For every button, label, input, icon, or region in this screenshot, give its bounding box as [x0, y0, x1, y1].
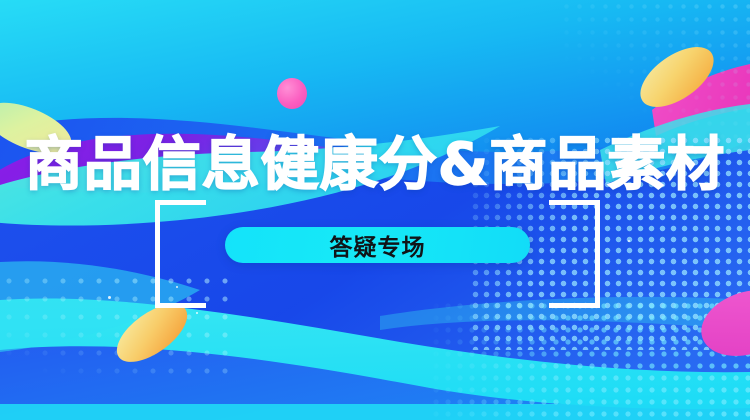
- sparkle-dot: [108, 296, 111, 299]
- pink-circle-shape: [277, 78, 307, 109]
- banner-title: 商品信息健康分&商品素材: [25, 133, 726, 195]
- bracket-right-decoration: [549, 200, 600, 308]
- promo-banner: 商品信息健康分&商品素材 答疑专场: [0, 0, 750, 420]
- subtitle-pill: 答疑专场: [225, 227, 530, 263]
- background-waves: [0, 0, 750, 420]
- subtitle-label: 答疑专场: [330, 228, 426, 262]
- bracket-left-decoration: [155, 200, 206, 308]
- sparkle-dot: [628, 240, 630, 242]
- sparkle-dot: [196, 312, 198, 314]
- title-container: 商品信息健康分&商品素材: [0, 133, 750, 195]
